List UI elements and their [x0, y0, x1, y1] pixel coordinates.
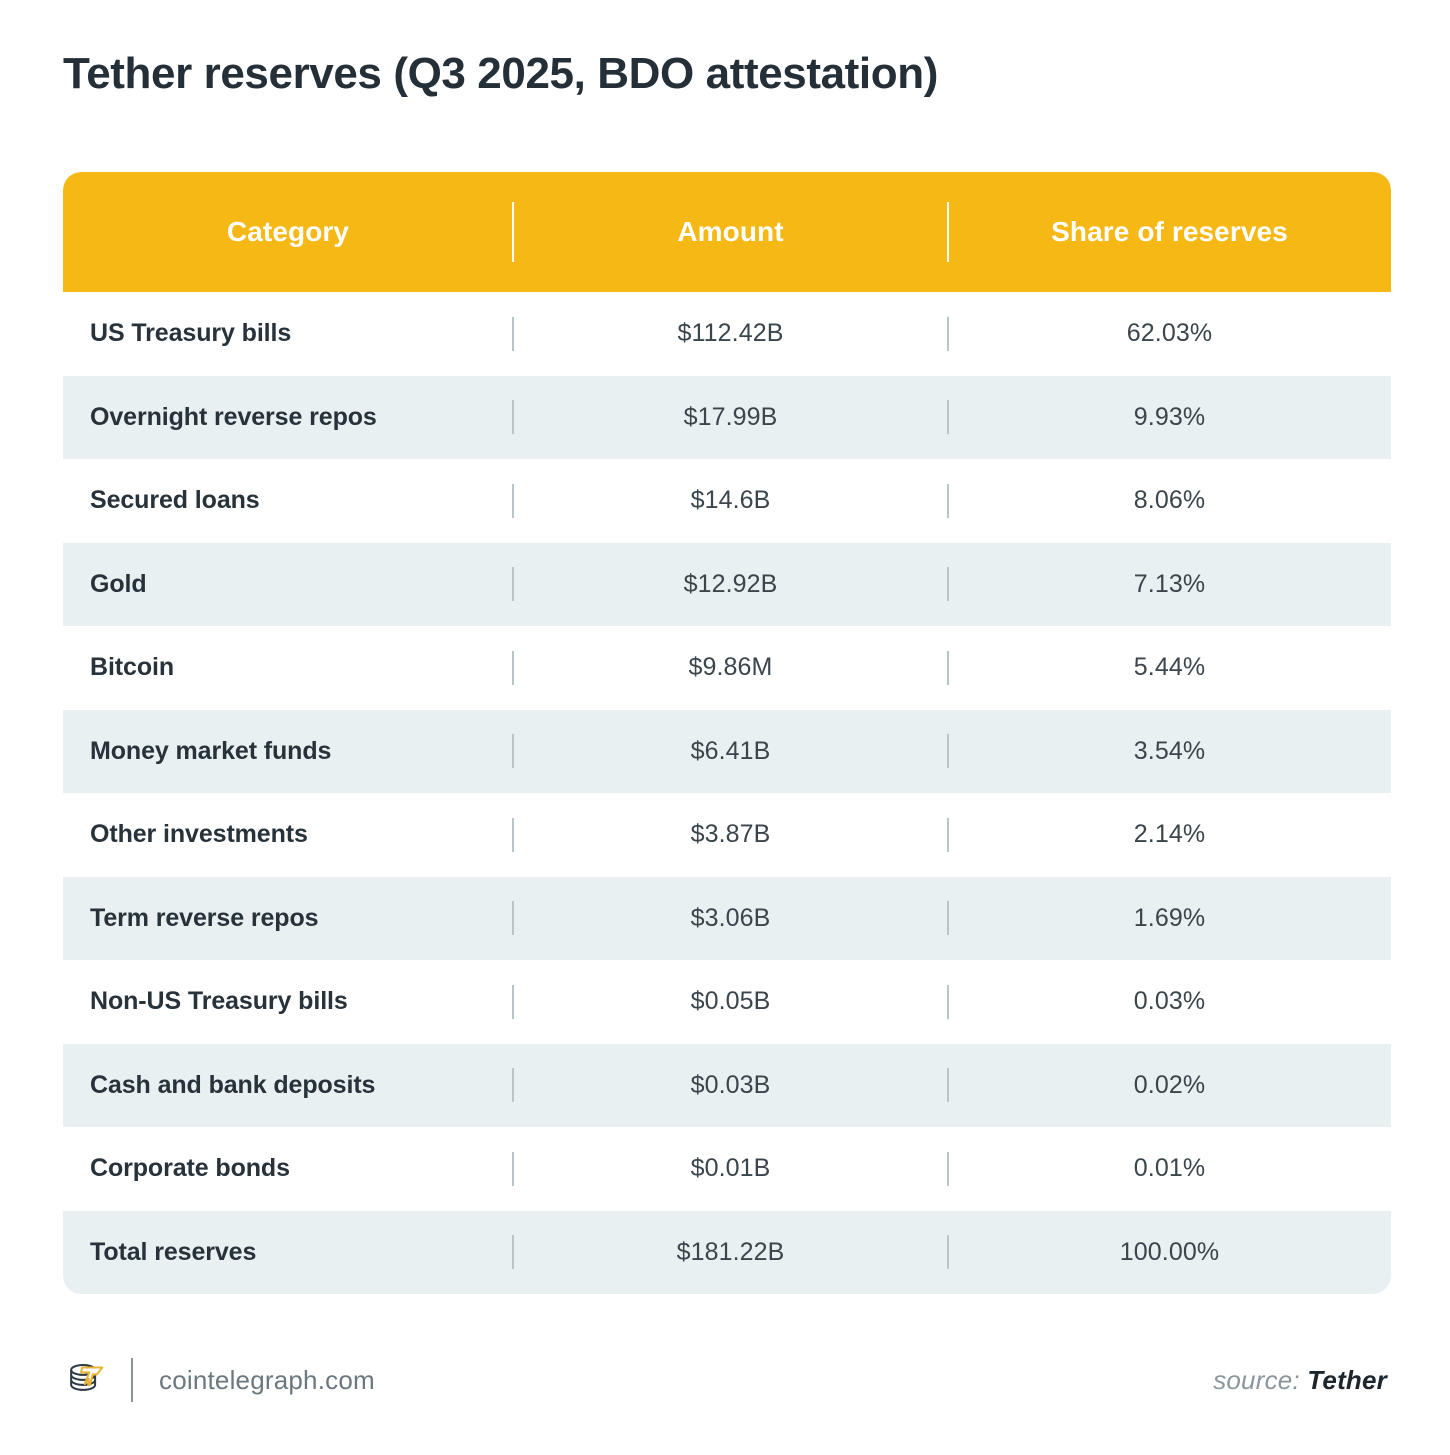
cell-share: 62.03%: [948, 319, 1391, 348]
row-divider-2: [947, 901, 949, 935]
table-row: Secured loans $14.6B 8.06%: [63, 459, 1391, 543]
footer: cointelegraph.com source: Tether: [63, 1340, 1387, 1420]
row-divider-1: [512, 651, 514, 685]
row-divider-1: [512, 1235, 514, 1269]
row-divider-2: [947, 400, 949, 434]
source-name: Tether: [1307, 1365, 1387, 1395]
table-header-row: Category Amount Share of reserves: [63, 172, 1391, 292]
row-divider-1: [512, 484, 514, 518]
source-attribution: source: Tether: [1213, 1365, 1387, 1396]
cell-category: Secured loans: [63, 486, 513, 515]
row-divider-1: [512, 985, 514, 1019]
table-row-total: Total reserves $181.22B 100.00%: [63, 1211, 1391, 1295]
cell-amount: $0.03B: [513, 1071, 948, 1100]
row-divider-2: [947, 567, 949, 601]
row-divider-2: [947, 484, 949, 518]
cell-share: 3.54%: [948, 737, 1391, 766]
table-row: Overnight reverse repos $17.99B 9.93%: [63, 376, 1391, 460]
cell-share: 9.93%: [948, 403, 1391, 432]
row-divider-1: [512, 734, 514, 768]
cell-category: Money market funds: [63, 737, 513, 766]
table-row: Non-US Treasury bills $0.05B 0.03%: [63, 960, 1391, 1044]
header-divider-2: [947, 202, 949, 262]
cell-share: 8.06%: [948, 486, 1391, 515]
reserves-table: Category Amount Share of reserves US Tre…: [63, 172, 1391, 1294]
table-row: Gold $12.92B 7.13%: [63, 543, 1391, 627]
row-divider-2: [947, 651, 949, 685]
table-row: Cash and bank deposits $0.03B 0.02%: [63, 1044, 1391, 1128]
cell-share: 5.44%: [948, 653, 1391, 682]
table-row: Other investments $3.87B 2.14%: [63, 793, 1391, 877]
row-divider-2: [947, 818, 949, 852]
row-divider-2: [947, 985, 949, 1019]
cell-amount: $181.22B: [513, 1238, 948, 1267]
row-divider-1: [512, 818, 514, 852]
row-divider-2: [947, 734, 949, 768]
infographic-canvas: Tether reserves (Q3 2025, BDO attestatio…: [0, 0, 1450, 1455]
row-divider-1: [512, 1152, 514, 1186]
cell-amount: $6.41B: [513, 737, 948, 766]
table-row: Bitcoin $9.86M 5.44%: [63, 626, 1391, 710]
cell-amount: $112.42B: [513, 319, 948, 348]
cell-category: Cash and bank deposits: [63, 1071, 513, 1100]
cell-share: 0.02%: [948, 1071, 1391, 1100]
cell-share: 100.00%: [948, 1238, 1391, 1267]
column-header-amount: Amount: [513, 216, 948, 248]
cell-amount: $12.92B: [513, 570, 948, 599]
cell-category: Overnight reverse repos: [63, 403, 513, 432]
cell-amount: $14.6B: [513, 486, 948, 515]
cell-amount: $0.05B: [513, 987, 948, 1016]
cell-amount: $3.87B: [513, 820, 948, 849]
cell-category: Other investments: [63, 820, 513, 849]
header-divider-1: [512, 202, 514, 262]
row-divider-2: [947, 1235, 949, 1269]
footer-divider: [131, 1358, 133, 1402]
table-row: Term reverse repos $3.06B 1.69%: [63, 877, 1391, 961]
row-divider-2: [947, 317, 949, 351]
cell-category: Bitcoin: [63, 653, 513, 682]
cell-share: 0.03%: [948, 987, 1391, 1016]
cell-amount: $0.01B: [513, 1154, 948, 1183]
cell-share: 7.13%: [948, 570, 1391, 599]
cell-amount: $9.86M: [513, 653, 948, 682]
cell-amount: $3.06B: [513, 904, 948, 933]
site-url: cointelegraph.com: [159, 1365, 375, 1396]
row-divider-2: [947, 1152, 949, 1186]
row-divider-1: [512, 1068, 514, 1102]
cell-category: Gold: [63, 570, 513, 599]
row-divider-1: [512, 567, 514, 601]
table-row: US Treasury bills $112.42B 62.03%: [63, 292, 1391, 376]
cell-category: US Treasury bills: [63, 319, 513, 348]
column-header-category: Category: [63, 216, 513, 248]
cell-share: 1.69%: [948, 904, 1391, 933]
row-divider-2: [947, 1068, 949, 1102]
cell-category: Term reverse repos: [63, 904, 513, 933]
column-header-share: Share of reserves: [948, 216, 1391, 248]
cell-share: 2.14%: [948, 820, 1391, 849]
cell-category: Corporate bonds: [63, 1154, 513, 1183]
row-divider-1: [512, 901, 514, 935]
cointelegraph-coins-bolt-icon: [63, 1357, 109, 1403]
cell-category: Non-US Treasury bills: [63, 987, 513, 1016]
row-divider-1: [512, 400, 514, 434]
table-row: Money market funds $6.41B 3.54%: [63, 710, 1391, 794]
table-row: Corporate bonds $0.01B 0.01%: [63, 1127, 1391, 1211]
page-title: Tether reserves (Q3 2025, BDO attestatio…: [63, 48, 1393, 100]
row-divider-1: [512, 317, 514, 351]
footer-branding: cointelegraph.com: [63, 1357, 375, 1403]
cell-amount: $17.99B: [513, 403, 948, 432]
source-label: source:: [1213, 1365, 1300, 1395]
cell-share: 0.01%: [948, 1154, 1391, 1183]
cell-category: Total reserves: [63, 1238, 513, 1267]
